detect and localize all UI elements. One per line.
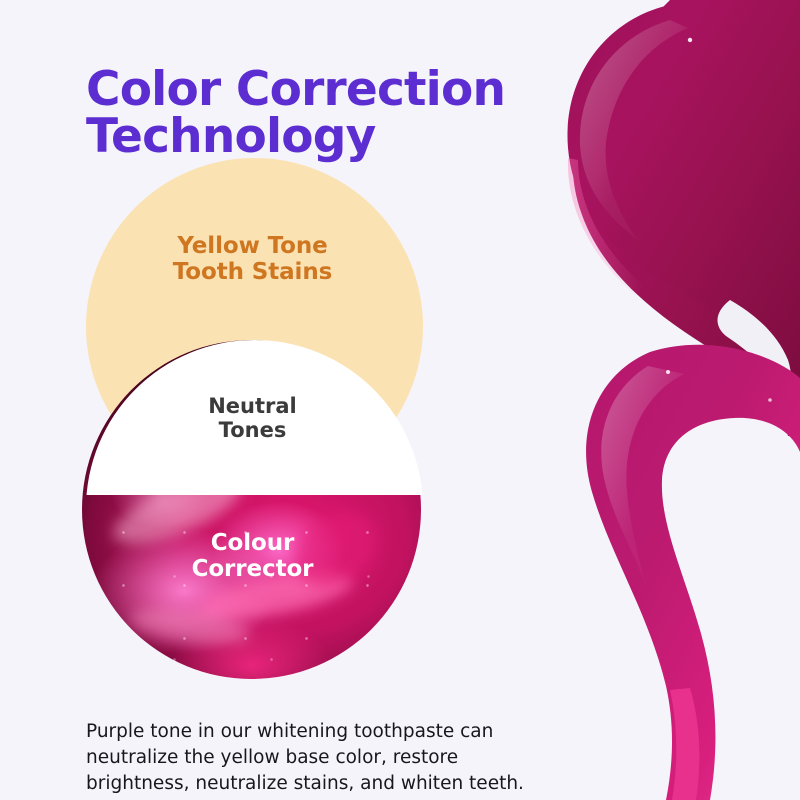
venn-diagram: Yellow Tone Tooth Stains Neutral Tones C… (80, 155, 425, 683)
venn-label-yellow-tone: Yellow Tone Tooth Stains (80, 233, 425, 285)
venn-label-neutral-tones: Neutral Tones (80, 395, 425, 443)
swirl-inner-notch (718, 300, 792, 392)
swirl-gloss-highlight (580, 20, 688, 240)
swirl-specular-dot (768, 398, 772, 402)
description-text: Purple tone in our whitening toothpaste … (86, 719, 556, 798)
swirl-specular-dot (666, 370, 670, 374)
swirl-upper-lobe (572, 0, 800, 436)
poster-canvas: Color Correction Technology Yellow Tone … (0, 0, 800, 800)
swirl-specular-dot (688, 38, 692, 42)
venn-label-colour-corrector: Colour Corrector (80, 530, 425, 582)
magenta-gel-swirl-artwork (520, 0, 800, 800)
swirl-rim-light (568, 158, 644, 296)
swirl-gloss-highlight-lower (601, 366, 684, 586)
swirl-lower-lobe (586, 345, 800, 800)
page-title: Color Correction Technology (86, 67, 556, 159)
swirl-tail (670, 688, 699, 800)
swirl-top-blob (567, 0, 800, 400)
